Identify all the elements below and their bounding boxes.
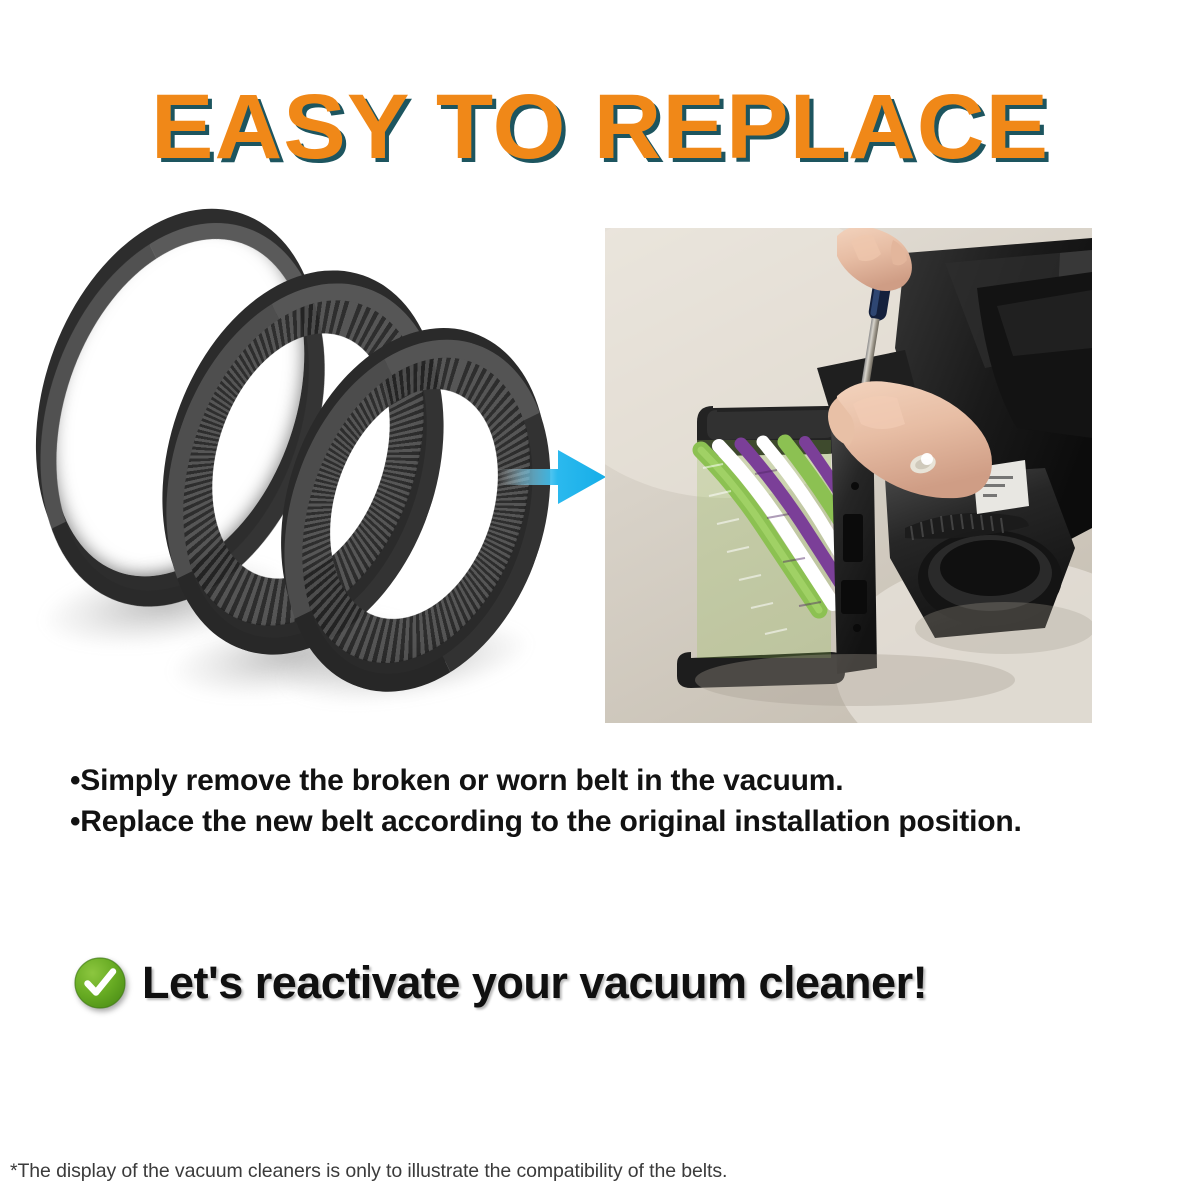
- cta-label: Let's reactivate your vacuum cleaner!: [142, 958, 927, 1008]
- blue-right-arrow-icon: [498, 438, 608, 516]
- list-item: •Replace the new belt according to the o…: [70, 801, 1150, 842]
- call-to-action: Let's reactivate your vacuum cleaner!: [72, 955, 927, 1011]
- instruction-list: •Simply remove the broken or worn belt i…: [70, 760, 1150, 842]
- belts-illustration: [30, 195, 530, 695]
- vacuum-belt-replacement-photo: [605, 228, 1092, 723]
- page-title: EASY TO REPLACE: [0, 78, 1200, 176]
- disclaimer-text: *The display of the vacuum cleaners is o…: [10, 1158, 727, 1184]
- green-check-badge-icon: [72, 955, 128, 1011]
- list-item: •Simply remove the broken or worn belt i…: [70, 760, 1150, 801]
- infographic-page: EASY TO REPLACE: [0, 0, 1200, 1200]
